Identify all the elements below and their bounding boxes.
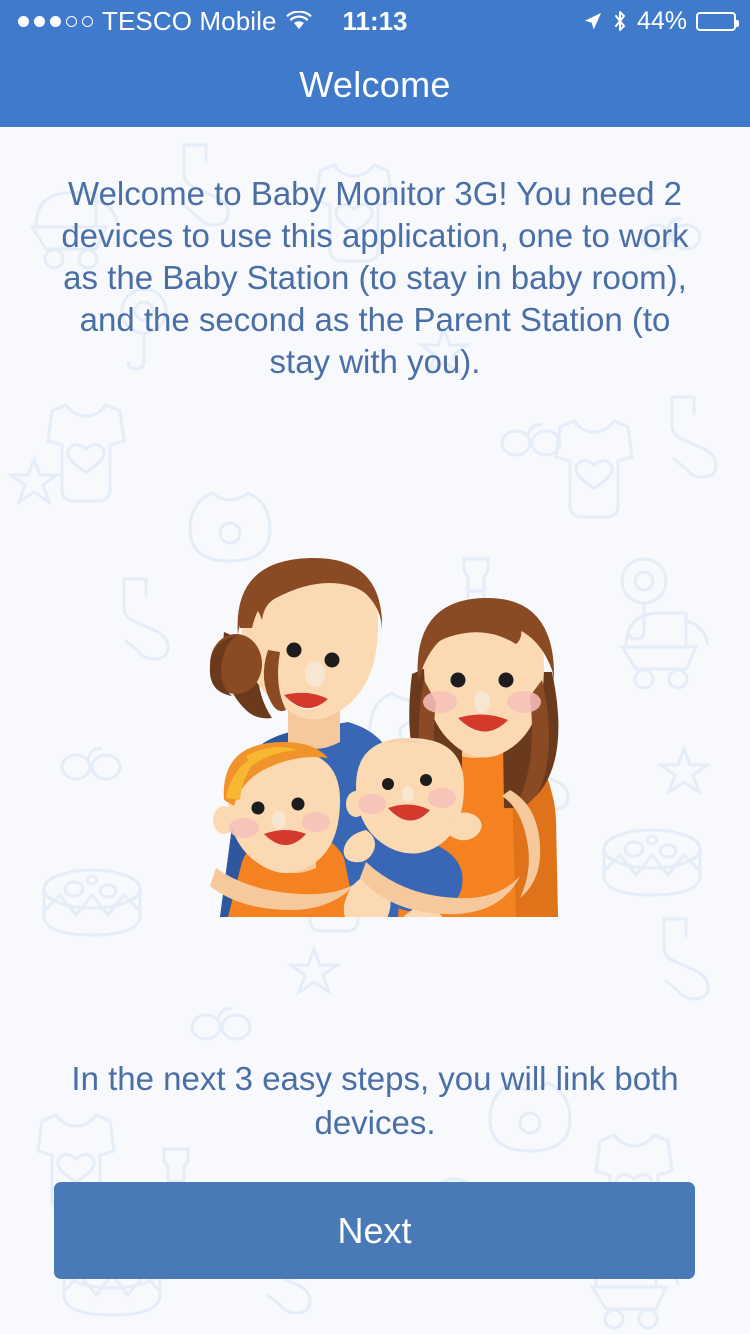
page-title: Welcome [299,64,450,106]
battery-percentage: 44% [637,0,687,42]
intro-paragraph: Welcome to Baby Monitor 3G! You need 2 d… [48,173,702,383]
content-area: Welcome to Baby Monitor 3G! You need 2 d… [0,127,750,1334]
next-button[interactable]: Next [54,1182,695,1279]
navigation-bar: Welcome [0,42,750,127]
status-bar: TESCO Mobile 11:13 44% [0,0,750,42]
bluetooth-icon [612,10,628,32]
location-arrow-icon [582,11,603,32]
app-screen: TESCO Mobile 11:13 44% [0,0,750,1334]
battery-icon [696,12,736,31]
footer-paragraph: In the next 3 easy steps, you will link … [48,1057,702,1145]
family-illustration [180,532,572,917]
status-bar-right: 44% [582,0,736,42]
